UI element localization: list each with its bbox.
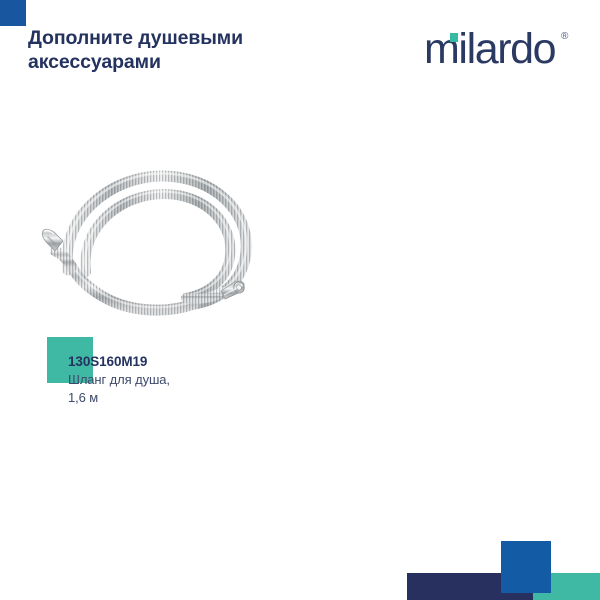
product-description-line-1: Шланг для душа, <box>68 371 288 389</box>
registered-trademark-icon: ® <box>561 32 568 42</box>
slide-canvas: Дополните душевыми аксессуарами milardo … <box>0 0 600 600</box>
top-left-accent-square <box>0 0 26 26</box>
product-image <box>24 132 284 317</box>
brand-i-dot-icon <box>450 33 458 42</box>
product-label: 130S160M19 Шланг для душа, 1,6 м <box>68 352 288 407</box>
product-description-line-2: 1,6 м <box>68 389 288 407</box>
bottom-accent-square-blue <box>501 541 551 593</box>
page-title: Дополните душевыми аксессуарами <box>28 26 328 74</box>
brand-logo: milardo ® <box>424 26 584 72</box>
shower-hose-illustration <box>24 132 284 317</box>
brand-wordmark: milardo <box>424 26 555 72</box>
product-code: 130S160M19 <box>68 352 288 371</box>
hose-connector-right <box>221 280 246 299</box>
